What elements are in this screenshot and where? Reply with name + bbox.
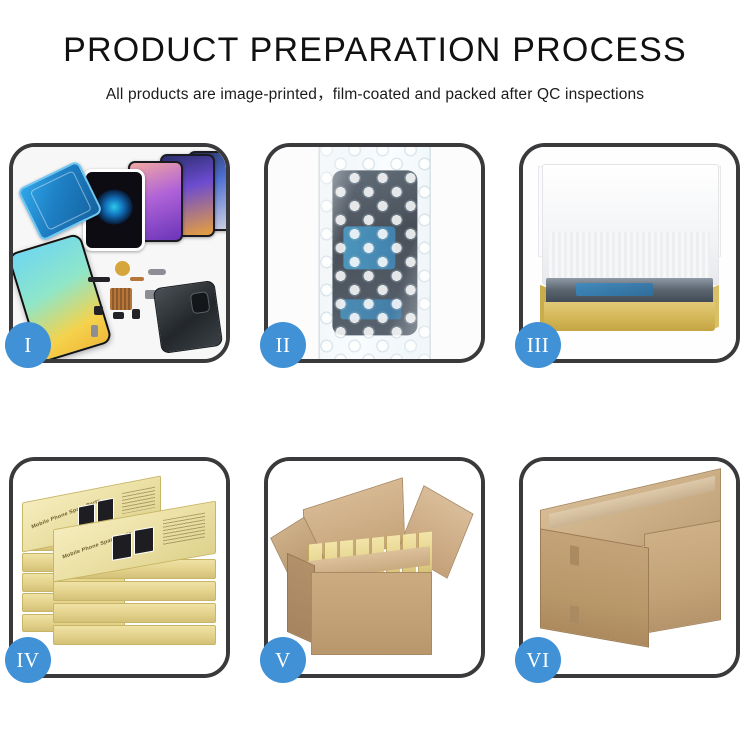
spare-parts-cluster [85,255,221,353]
retail-box-stack: Mobile Phone Spare Parts Mobile Phone Sp… [22,478,218,661]
step-badge-4: IV [5,637,51,683]
part-flex-cable [130,277,144,281]
stack-box-r3 [53,603,216,623]
box-screen-thumb-4 [134,527,154,555]
part-strip [88,277,110,282]
part-small-2 [113,312,124,319]
step-panel-6: VI [519,457,740,678]
step-image-6 [523,461,736,674]
step-badge-1: I [5,322,51,368]
part-connector-1 [148,269,166,275]
step-image-4: Mobile Phone Spare Parts Mobile Phone Sp… [13,461,226,674]
box-tray-front [544,302,714,332]
step-badge-6: VI [515,637,561,683]
carton-seam-upper [570,545,579,566]
part-small-1 [94,306,103,315]
step-image-2 [268,147,481,359]
phone-backplate [153,280,224,354]
process-steps-grid: I II III [9,143,741,678]
step-badge-5: V [260,637,306,683]
step-image-3 [523,147,736,359]
part-speaker-icon [115,261,130,276]
stack-box-r4 [53,625,216,645]
step-panel-2: II [264,143,485,363]
sealed-carton-right-face [644,520,721,633]
part-chip-grid [110,288,132,310]
step-panel-1: I [9,143,230,363]
part-small-4 [91,325,98,337]
step-panel-4: Mobile Phone Spare Parts Mobile Phone Sp… [9,457,230,678]
page-header: PRODUCT PREPARATION PROCESS All products… [0,0,750,104]
step-badge-2: II [260,322,306,368]
part-small-3 [132,309,140,319]
box-screen-thumb-3 [112,533,132,561]
carton-front-face [311,572,432,655]
step-image-5 [268,461,481,674]
page-title: PRODUCT PREPARATION PROCESS [0,32,750,69]
wrap-gloss-highlight [319,147,430,359]
step-badge-3: III [515,322,561,368]
carton-seam-lower [570,605,579,624]
step-panel-5: V [264,457,485,678]
page-subtitle: All products are image-printed，film-coat… [0,82,750,104]
step-panel-3: III [519,143,740,363]
sealed-carton-front-face [540,528,649,647]
packed-products-row [546,278,712,303]
step-image-1 [13,147,226,359]
stack-box-r2 [53,581,216,601]
